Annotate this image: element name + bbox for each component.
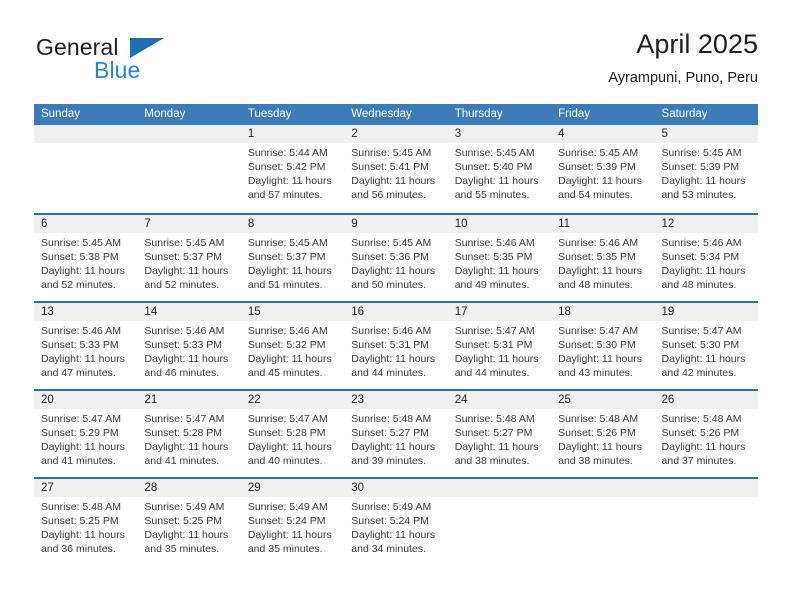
calendar-day-cell[interactable]: 7Sunrise: 5:45 AMSunset: 5:37 PMDaylight…: [137, 215, 240, 301]
weekday-header-monday: Monday: [137, 104, 240, 125]
calendar-day-cell[interactable]: 11Sunrise: 5:46 AMSunset: 5:35 PMDayligh…: [551, 215, 654, 301]
sun-info-line: Sunset: 5:28 PM: [248, 426, 340, 440]
sun-info-line: and 57 minutes.: [248, 188, 340, 202]
sun-info-line: Sunrise: 5:49 AM: [248, 500, 340, 514]
weekday-header-tuesday: Tuesday: [241, 104, 344, 125]
calendar-cell-empty: [655, 479, 758, 565]
sun-info-line: Daylight: 11 hours: [248, 264, 340, 278]
sun-info-line: and 56 minutes.: [351, 188, 443, 202]
sun-info-line: Sunset: 5:33 PM: [144, 338, 236, 352]
calendar-cell-empty: [137, 125, 240, 213]
day-number: [41, 125, 133, 143]
calendar-day-cell[interactable]: 24Sunrise: 5:48 AMSunset: 5:27 PMDayligh…: [448, 391, 551, 477]
sun-info: Sunrise: 5:47 AMSunset: 5:28 PMDaylight:…: [144, 412, 236, 468]
day-number: 10: [455, 215, 547, 233]
sun-info-line: Sunset: 5:31 PM: [351, 338, 443, 352]
sun-info-line: Sunrise: 5:49 AM: [351, 500, 443, 514]
day-number: [558, 479, 650, 497]
sun-info: Sunrise: 5:48 AMSunset: 5:27 PMDaylight:…: [351, 412, 443, 468]
sun-info-line: Sunrise: 5:46 AM: [248, 324, 340, 338]
sun-info-line: Sunrise: 5:46 AM: [662, 236, 754, 250]
sun-info-line: Sunrise: 5:45 AM: [248, 236, 340, 250]
sun-info-line: and 52 minutes.: [41, 278, 133, 292]
calendar-body: 1Sunrise: 5:44 AMSunset: 5:42 PMDaylight…: [34, 125, 758, 565]
calendar-grid: SundayMondayTuesdayWednesdayThursdayFrid…: [34, 104, 758, 565]
sun-info-line: Sunrise: 5:44 AM: [248, 146, 340, 160]
week-cells: 13Sunrise: 5:46 AMSunset: 5:33 PMDayligh…: [34, 303, 758, 389]
day-number: 30: [351, 479, 443, 497]
day-number: 11: [558, 215, 650, 233]
calendar-day-cell[interactable]: 23Sunrise: 5:48 AMSunset: 5:27 PMDayligh…: [344, 391, 447, 477]
calendar-day-cell[interactable]: 19Sunrise: 5:47 AMSunset: 5:30 PMDayligh…: [655, 303, 758, 389]
sun-info: Sunrise: 5:45 AMSunset: 5:38 PMDaylight:…: [41, 236, 133, 292]
sun-info-line: Sunrise: 5:47 AM: [662, 324, 754, 338]
calendar-day-cell[interactable]: 6Sunrise: 5:45 AMSunset: 5:38 PMDaylight…: [34, 215, 137, 301]
sun-info-line: Sunset: 5:30 PM: [662, 338, 754, 352]
day-number: 22: [248, 391, 340, 409]
sun-info-line: and 41 minutes.: [144, 454, 236, 468]
sun-info-line: Daylight: 11 hours: [455, 440, 547, 454]
sun-info-line: Sunrise: 5:48 AM: [351, 412, 443, 426]
sun-info-line: and 52 minutes.: [144, 278, 236, 292]
sun-info-line: Daylight: 11 hours: [558, 264, 650, 278]
sun-info-line: Sunrise: 5:49 AM: [144, 500, 236, 514]
week-cells: 1Sunrise: 5:44 AMSunset: 5:42 PMDaylight…: [34, 125, 758, 213]
sun-info-line: Daylight: 11 hours: [662, 440, 754, 454]
calendar-day-cell[interactable]: 22Sunrise: 5:47 AMSunset: 5:28 PMDayligh…: [241, 391, 344, 477]
sun-info: Sunrise: 5:47 AMSunset: 5:31 PMDaylight:…: [455, 324, 547, 380]
sun-info-line: Daylight: 11 hours: [455, 352, 547, 366]
sun-info: Sunrise: 5:48 AMSunset: 5:26 PMDaylight:…: [558, 412, 650, 468]
sun-info-line: and 54 minutes.: [558, 188, 650, 202]
weekday-header-thursday: Thursday: [448, 104, 551, 125]
sun-info-line: Sunset: 5:25 PM: [41, 514, 133, 528]
sun-info-line: Sunrise: 5:46 AM: [558, 236, 650, 250]
calendar-day-cell[interactable]: 30Sunrise: 5:49 AMSunset: 5:24 PMDayligh…: [344, 479, 447, 565]
day-number: [144, 125, 236, 143]
sun-info-line: Sunrise: 5:48 AM: [662, 412, 754, 426]
sun-info-line: and 42 minutes.: [662, 366, 754, 380]
day-number: 23: [351, 391, 443, 409]
sun-info-line: Sunset: 5:27 PM: [351, 426, 443, 440]
sun-info-line: and 40 minutes.: [248, 454, 340, 468]
calendar-day-cell[interactable]: 28Sunrise: 5:49 AMSunset: 5:25 PMDayligh…: [137, 479, 240, 565]
day-number: 19: [662, 303, 754, 321]
sun-info-line: Sunset: 5:40 PM: [455, 160, 547, 174]
sun-info-line: Sunrise: 5:47 AM: [144, 412, 236, 426]
sun-info-line: Sunset: 5:32 PM: [248, 338, 340, 352]
sun-info-line: and 35 minutes.: [248, 542, 340, 556]
sun-info: Sunrise: 5:45 AMSunset: 5:40 PMDaylight:…: [455, 146, 547, 202]
sun-info-line: Sunset: 5:31 PM: [455, 338, 547, 352]
sun-info: Sunrise: 5:47 AMSunset: 5:30 PMDaylight:…: [558, 324, 650, 380]
sun-info: Sunrise: 5:47 AMSunset: 5:30 PMDaylight:…: [662, 324, 754, 380]
sun-info: Sunrise: 5:47 AMSunset: 5:29 PMDaylight:…: [41, 412, 133, 468]
sun-info-line: and 46 minutes.: [144, 366, 236, 380]
sun-info-line: Sunrise: 5:46 AM: [455, 236, 547, 250]
sun-info-line: and 39 minutes.: [351, 454, 443, 468]
logo-text-blue: Blue: [94, 57, 140, 83]
logo-triangle-icon: [130, 38, 164, 58]
sun-info: Sunrise: 5:46 AMSunset: 5:34 PMDaylight:…: [662, 236, 754, 292]
sun-info-line: and 36 minutes.: [41, 542, 133, 556]
sun-info: Sunrise: 5:48 AMSunset: 5:27 PMDaylight:…: [455, 412, 547, 468]
sun-info-line: Daylight: 11 hours: [662, 264, 754, 278]
day-number: 28: [144, 479, 236, 497]
sun-info-line: Sunset: 5:26 PM: [662, 426, 754, 440]
sun-info-line: Sunset: 5:35 PM: [455, 250, 547, 264]
calendar-day-cell[interactable]: 14Sunrise: 5:46 AMSunset: 5:33 PMDayligh…: [137, 303, 240, 389]
calendar-day-cell[interactable]: 25Sunrise: 5:48 AMSunset: 5:26 PMDayligh…: [551, 391, 654, 477]
sun-info-line: Daylight: 11 hours: [662, 174, 754, 188]
day-number: 17: [455, 303, 547, 321]
sun-info-line: Sunset: 5:28 PM: [144, 426, 236, 440]
page-subtitle: Ayrampuni, Puno, Peru: [608, 68, 758, 88]
sun-info-line: Daylight: 11 hours: [351, 264, 443, 278]
day-number: 27: [41, 479, 133, 497]
sun-info-line: Sunset: 5:39 PM: [558, 160, 650, 174]
sun-info-line: Daylight: 11 hours: [41, 528, 133, 542]
sun-info-line: Sunset: 5:24 PM: [351, 514, 443, 528]
sun-info-line: and 44 minutes.: [455, 366, 547, 380]
sun-info-line: Sunset: 5:29 PM: [41, 426, 133, 440]
sun-info: Sunrise: 5:45 AMSunset: 5:37 PMDaylight:…: [248, 236, 340, 292]
sun-info-line: Daylight: 11 hours: [455, 174, 547, 188]
day-number: 7: [144, 215, 236, 233]
week-cells: 20Sunrise: 5:47 AMSunset: 5:29 PMDayligh…: [34, 391, 758, 477]
day-number: 26: [662, 391, 754, 409]
calendar-cell-empty: [551, 479, 654, 565]
sun-info: Sunrise: 5:46 AMSunset: 5:32 PMDaylight:…: [248, 324, 340, 380]
sun-info-line: Sunrise: 5:47 AM: [248, 412, 340, 426]
sun-info: Sunrise: 5:45 AMSunset: 5:39 PMDaylight:…: [558, 146, 650, 202]
sun-info-line: Sunrise: 5:47 AM: [455, 324, 547, 338]
sun-info: Sunrise: 5:49 AMSunset: 5:24 PMDaylight:…: [248, 500, 340, 556]
sun-info-line: and 44 minutes.: [351, 366, 443, 380]
sun-info-line: Daylight: 11 hours: [351, 440, 443, 454]
calendar-day-cell[interactable]: 5Sunrise: 5:45 AMSunset: 5:39 PMDaylight…: [655, 125, 758, 213]
calendar-day-cell[interactable]: 21Sunrise: 5:47 AMSunset: 5:28 PMDayligh…: [137, 391, 240, 477]
sun-info: Sunrise: 5:44 AMSunset: 5:42 PMDaylight:…: [248, 146, 340, 202]
sun-info-line: Sunset: 5:33 PM: [41, 338, 133, 352]
sun-info-line: and 51 minutes.: [248, 278, 340, 292]
sun-info-line: and 45 minutes.: [248, 366, 340, 380]
sun-info-line: Daylight: 11 hours: [144, 264, 236, 278]
sun-info-line: Sunrise: 5:45 AM: [41, 236, 133, 250]
sun-info-line: and 49 minutes.: [455, 278, 547, 292]
day-number: 20: [41, 391, 133, 409]
calendar-day-cell[interactable]: 16Sunrise: 5:46 AMSunset: 5:31 PMDayligh…: [344, 303, 447, 389]
calendar-day-cell[interactable]: 4Sunrise: 5:45 AMSunset: 5:39 PMDaylight…: [551, 125, 654, 213]
sun-info-line: Daylight: 11 hours: [558, 352, 650, 366]
sun-info-line: Daylight: 11 hours: [662, 352, 754, 366]
sun-info: Sunrise: 5:45 AMSunset: 5:37 PMDaylight:…: [144, 236, 236, 292]
calendar-day-cell[interactable]: 10Sunrise: 5:46 AMSunset: 5:35 PMDayligh…: [448, 215, 551, 301]
week-cells: 27Sunrise: 5:48 AMSunset: 5:25 PMDayligh…: [34, 479, 758, 565]
sun-info-line: Sunset: 5:26 PM: [558, 426, 650, 440]
sun-info-line: Sunset: 5:41 PM: [351, 160, 443, 174]
sun-info: Sunrise: 5:46 AMSunset: 5:35 PMDaylight:…: [558, 236, 650, 292]
sun-info-line: and 37 minutes.: [662, 454, 754, 468]
sun-info-line: Sunrise: 5:45 AM: [455, 146, 547, 160]
sun-info-line: Sunset: 5:34 PM: [662, 250, 754, 264]
week-cells: 6Sunrise: 5:45 AMSunset: 5:38 PMDaylight…: [34, 215, 758, 301]
sun-info-line: and 48 minutes.: [662, 278, 754, 292]
sun-info-line: and 47 minutes.: [41, 366, 133, 380]
sun-info-line: Sunset: 5:27 PM: [455, 426, 547, 440]
calendar-week-row: 1Sunrise: 5:44 AMSunset: 5:42 PMDaylight…: [34, 125, 758, 213]
sun-info-line: Sunset: 5:42 PM: [248, 160, 340, 174]
day-number: 4: [558, 125, 650, 143]
sun-info-line: Sunset: 5:37 PM: [248, 250, 340, 264]
day-number: 9: [351, 215, 443, 233]
sun-info-line: Daylight: 11 hours: [144, 440, 236, 454]
sun-info: Sunrise: 5:48 AMSunset: 5:26 PMDaylight:…: [662, 412, 754, 468]
sun-info-line: Daylight: 11 hours: [558, 174, 650, 188]
day-number: 6: [41, 215, 133, 233]
calendar-day-cell[interactable]: 9Sunrise: 5:45 AMSunset: 5:36 PMDaylight…: [344, 215, 447, 301]
sun-info-line: Daylight: 11 hours: [351, 352, 443, 366]
day-number: [455, 479, 547, 497]
calendar-cell-empty: [448, 479, 551, 565]
weekday-header-saturday: Saturday: [655, 104, 758, 125]
calendar-day-cell[interactable]: 2Sunrise: 5:45 AMSunset: 5:41 PMDaylight…: [344, 125, 447, 213]
day-number: 18: [558, 303, 650, 321]
sun-info-line: Sunrise: 5:48 AM: [41, 500, 133, 514]
calendar-day-cell[interactable]: 18Sunrise: 5:47 AMSunset: 5:30 PMDayligh…: [551, 303, 654, 389]
sun-info-line: Sunrise: 5:45 AM: [144, 236, 236, 250]
sun-info-line: Sunset: 5:35 PM: [558, 250, 650, 264]
sun-info-line: Sunrise: 5:46 AM: [41, 324, 133, 338]
calendar-cell-empty: [34, 125, 137, 213]
sun-info-line: Daylight: 11 hours: [248, 352, 340, 366]
sun-info: Sunrise: 5:45 AMSunset: 5:39 PMDaylight:…: [662, 146, 754, 202]
calendar-day-cell[interactable]: 26Sunrise: 5:48 AMSunset: 5:26 PMDayligh…: [655, 391, 758, 477]
sun-info: Sunrise: 5:45 AMSunset: 5:41 PMDaylight:…: [351, 146, 443, 202]
generalblue-logo[interactable]: General Blue: [34, 34, 264, 90]
day-number: 21: [144, 391, 236, 409]
sun-info-line: Daylight: 11 hours: [248, 440, 340, 454]
day-number: 24: [455, 391, 547, 409]
sun-info: Sunrise: 5:45 AMSunset: 5:36 PMDaylight:…: [351, 236, 443, 292]
sun-info-line: Daylight: 11 hours: [351, 528, 443, 542]
day-number: 12: [662, 215, 754, 233]
sun-info-line: and 35 minutes.: [144, 542, 236, 556]
sun-info-line: Sunrise: 5:45 AM: [662, 146, 754, 160]
day-number: 25: [558, 391, 650, 409]
day-number: 29: [248, 479, 340, 497]
sun-info-line: Sunset: 5:39 PM: [662, 160, 754, 174]
page-header: General Blue April 2025 Ayrampuni, Puno,…: [34, 28, 758, 96]
sun-info-line: and 48 minutes.: [558, 278, 650, 292]
calendar-week-row: 13Sunrise: 5:46 AMSunset: 5:33 PMDayligh…: [34, 301, 758, 389]
sun-info-line: Sunset: 5:36 PM: [351, 250, 443, 264]
sun-info-line: and 55 minutes.: [455, 188, 547, 202]
sun-info: Sunrise: 5:49 AMSunset: 5:25 PMDaylight:…: [144, 500, 236, 556]
calendar-day-cell[interactable]: 27Sunrise: 5:48 AMSunset: 5:25 PMDayligh…: [34, 479, 137, 565]
day-number: 13: [41, 303, 133, 321]
sun-info-line: Daylight: 11 hours: [41, 352, 133, 366]
calendar-day-cell[interactable]: 12Sunrise: 5:46 AMSunset: 5:34 PMDayligh…: [655, 215, 758, 301]
sun-info: Sunrise: 5:46 AMSunset: 5:31 PMDaylight:…: [351, 324, 443, 380]
calendar-day-cell[interactable]: 17Sunrise: 5:47 AMSunset: 5:31 PMDayligh…: [448, 303, 551, 389]
title-block: April 2025 Ayrampuni, Puno, Peru: [608, 28, 758, 88]
sun-info-line: and 38 minutes.: [455, 454, 547, 468]
calendar-day-cell[interactable]: 20Sunrise: 5:47 AMSunset: 5:29 PMDayligh…: [34, 391, 137, 477]
sun-info-line: Daylight: 11 hours: [144, 352, 236, 366]
sun-info-line: Daylight: 11 hours: [41, 440, 133, 454]
sun-info-line: and 41 minutes.: [41, 454, 133, 468]
calendar-day-cell[interactable]: 15Sunrise: 5:46 AMSunset: 5:32 PMDayligh…: [241, 303, 344, 389]
sun-info-line: Daylight: 11 hours: [455, 264, 547, 278]
sun-info-line: Daylight: 11 hours: [351, 174, 443, 188]
sun-info-line: Sunset: 5:30 PM: [558, 338, 650, 352]
sun-info-line: Sunrise: 5:48 AM: [455, 412, 547, 426]
day-number: 1: [248, 125, 340, 143]
weekday-header-row: SundayMondayTuesdayWednesdayThursdayFrid…: [34, 104, 758, 125]
sun-info-line: Daylight: 11 hours: [248, 528, 340, 542]
day-number: [662, 479, 754, 497]
calendar-day-cell[interactable]: 13Sunrise: 5:46 AMSunset: 5:33 PMDayligh…: [34, 303, 137, 389]
day-number: 2: [351, 125, 443, 143]
day-number: 5: [662, 125, 754, 143]
calendar-day-cell[interactable]: 1Sunrise: 5:44 AMSunset: 5:42 PMDaylight…: [241, 125, 344, 213]
sun-info-line: Sunrise: 5:45 AM: [351, 236, 443, 250]
sun-info-line: Sunrise: 5:45 AM: [558, 146, 650, 160]
sun-info-line: Daylight: 11 hours: [41, 264, 133, 278]
calendar-week-row: 6Sunrise: 5:45 AMSunset: 5:38 PMDaylight…: [34, 213, 758, 301]
day-number: 8: [248, 215, 340, 233]
sun-info-line: and 50 minutes.: [351, 278, 443, 292]
sun-info-line: Sunset: 5:37 PM: [144, 250, 236, 264]
calendar-day-cell[interactable]: 8Sunrise: 5:45 AMSunset: 5:37 PMDaylight…: [241, 215, 344, 301]
day-number: 15: [248, 303, 340, 321]
sun-info-line: Sunrise: 5:45 AM: [351, 146, 443, 160]
sun-info: Sunrise: 5:48 AMSunset: 5:25 PMDaylight:…: [41, 500, 133, 556]
sun-info: Sunrise: 5:46 AMSunset: 5:33 PMDaylight:…: [144, 324, 236, 380]
calendar-day-cell[interactable]: 3Sunrise: 5:45 AMSunset: 5:40 PMDaylight…: [448, 125, 551, 213]
calendar-page: General Blue April 2025 Ayrampuni, Puno,…: [0, 0, 792, 612]
sun-info-line: Sunset: 5:25 PM: [144, 514, 236, 528]
sun-info-line: Sunset: 5:38 PM: [41, 250, 133, 264]
sun-info-line: Sunrise: 5:47 AM: [41, 412, 133, 426]
sun-info-line: Sunrise: 5:46 AM: [351, 324, 443, 338]
calendar-week-row: 27Sunrise: 5:48 AMSunset: 5:25 PMDayligh…: [34, 477, 758, 565]
day-number: 16: [351, 303, 443, 321]
calendar-week-row: 20Sunrise: 5:47 AMSunset: 5:29 PMDayligh…: [34, 389, 758, 477]
sun-info-line: Sunset: 5:24 PM: [248, 514, 340, 528]
sun-info-line: and 43 minutes.: [558, 366, 650, 380]
sun-info: Sunrise: 5:49 AMSunset: 5:24 PMDaylight:…: [351, 500, 443, 556]
sun-info-line: and 53 minutes.: [662, 188, 754, 202]
sun-info: Sunrise: 5:46 AMSunset: 5:33 PMDaylight:…: [41, 324, 133, 380]
sun-info-line: Daylight: 11 hours: [144, 528, 236, 542]
day-number: 3: [455, 125, 547, 143]
weekday-header-sunday: Sunday: [34, 104, 137, 125]
sun-info-line: and 38 minutes.: [558, 454, 650, 468]
day-number: 14: [144, 303, 236, 321]
weekday-header-friday: Friday: [551, 104, 654, 125]
weekday-header-wednesday: Wednesday: [344, 104, 447, 125]
sun-info-line: Sunrise: 5:46 AM: [144, 324, 236, 338]
sun-info-line: Daylight: 11 hours: [558, 440, 650, 454]
sun-info-line: Sunrise: 5:48 AM: [558, 412, 650, 426]
sun-info: Sunrise: 5:46 AMSunset: 5:35 PMDaylight:…: [455, 236, 547, 292]
sun-info-line: Sunrise: 5:47 AM: [558, 324, 650, 338]
sun-info-line: Daylight: 11 hours: [248, 174, 340, 188]
page-title: April 2025: [608, 28, 758, 61]
calendar-day-cell[interactable]: 29Sunrise: 5:49 AMSunset: 5:24 PMDayligh…: [241, 479, 344, 565]
sun-info: Sunrise: 5:47 AMSunset: 5:28 PMDaylight:…: [248, 412, 340, 468]
sun-info-line: and 34 minutes.: [351, 542, 443, 556]
